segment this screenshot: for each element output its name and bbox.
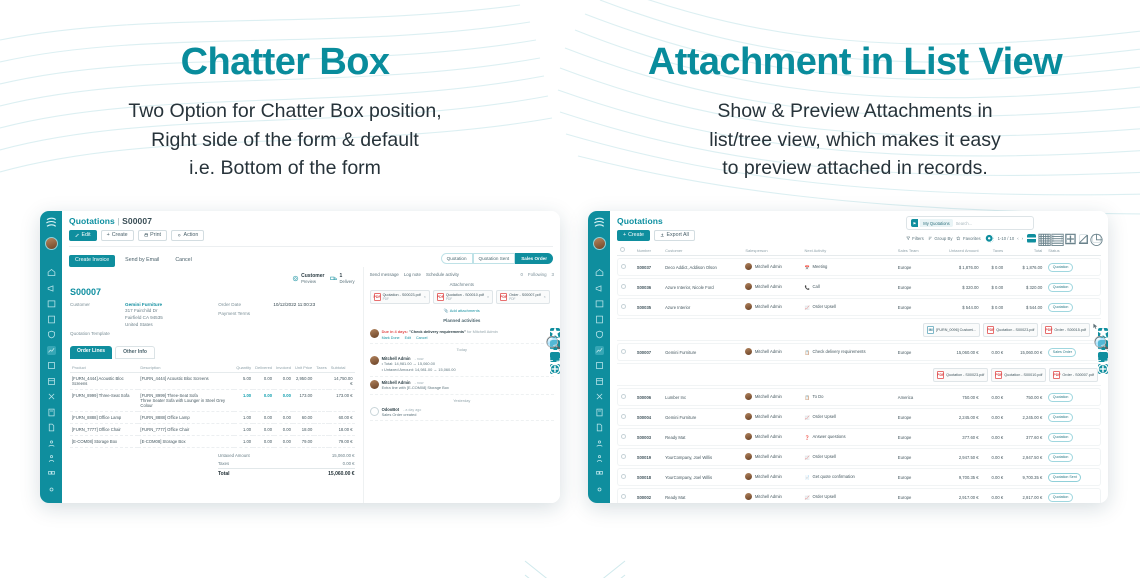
search-facet-label: My Quotations [920, 219, 952, 227]
attachments-title: Attachments [370, 282, 554, 287]
close-icon[interactable]: × [487, 295, 489, 299]
checkbox-icon[interactable] [621, 304, 626, 309]
col-customer[interactable]: Customer [662, 245, 742, 256]
table-row[interactable]: [FURN_4444] Acoustic Bloc Screens [FURN_… [70, 372, 355, 389]
activity-label: Call [812, 284, 819, 289]
attachment-chip[interactable]: PDF Quotation - S00010.pdf PDF × [433, 290, 493, 304]
checkbox-icon[interactable] [621, 414, 626, 419]
apps-icon[interactable] [47, 470, 56, 479]
paperclip-icon: 📎 [444, 308, 449, 313]
graph-icon[interactable]: ⊿ [1079, 234, 1088, 243]
purchase-icon[interactable] [595, 377, 604, 386]
attachment-cell: PDF Quotation - S00023.pdf PDF Quotation… [617, 363, 1101, 386]
edit-activity-button[interactable]: Edit [405, 336, 411, 340]
employees-icon[interactable] [47, 439, 56, 448]
inventory-icon[interactable] [47, 361, 56, 370]
cell-untaxed: 750.00 € [932, 388, 982, 406]
col-salesperson[interactable]: Salesperson [742, 245, 801, 256]
status-bar: Quotation Quotation Sent Sales Order [441, 253, 553, 264]
home-icon[interactable] [595, 268, 604, 277]
cell-activity: 📅Meeting [801, 258, 894, 276]
calendar-icon[interactable] [595, 299, 604, 308]
create-button-label: Create [628, 233, 644, 238]
salesperson-name: Mitchell Admin [755, 264, 782, 269]
log-note-button[interactable]: Log note [404, 272, 421, 277]
col-taxes[interactable]: Taxes [314, 363, 328, 373]
cell-status: Quotation Sent [1045, 468, 1101, 486]
documents-icon[interactable] [47, 423, 56, 432]
settings-icon[interactable] [595, 485, 604, 494]
schedule-activity-button[interactable]: Schedule activity [426, 272, 459, 277]
odoo-logo-icon[interactable] [43, 215, 59, 231]
activity-icon[interactable]: ◷ [1092, 234, 1101, 243]
avatar [745, 493, 752, 500]
kanban-icon[interactable]: ▦ [1040, 234, 1049, 243]
gear-icon [177, 233, 182, 238]
chatter-panel: Send message Log note Schedule activity … [364, 267, 560, 503]
sales-icon[interactable] [595, 346, 604, 355]
attachment-chip[interactable]: PDF Order - S00007.pdf PDF × [496, 290, 550, 304]
message-item: OdooBot - a day ago Sales Order created [370, 404, 554, 422]
cell-salesperson: Mitchell Admin [742, 343, 801, 361]
calendar-icon[interactable] [47, 299, 56, 308]
cell-untaxed: $ 1,876.00 [932, 258, 982, 276]
attachment-type: PDF [383, 297, 421, 301]
send-by-email-button[interactable]: Send by Email [119, 255, 165, 266]
cell-taxes: 0.00 € [982, 468, 1007, 486]
table-row[interactable]: [FURN_8999] Three-Seat Sofa [FURN_8999] … [70, 389, 355, 411]
settings-icon[interactable] [47, 485, 56, 494]
avatar [745, 263, 752, 270]
export-all-label: Export All [667, 233, 689, 238]
pencil-icon [75, 233, 80, 238]
manufacturing-icon[interactable] [47, 392, 56, 401]
cell-untaxed: 377.60 € [932, 428, 982, 446]
cell-delivered: 0.00 [253, 411, 274, 423]
cell-quantity: 1.00 [234, 389, 253, 411]
breadcrumb-app[interactable]: Quotations [69, 216, 115, 226]
row-checkbox[interactable] [617, 343, 634, 361]
attachment-chip[interactable]: PDF Order - S00007.pdf [1049, 368, 1098, 382]
headline-subtitle-attachment-list-view: Show & Preview Attachments in list/tree … [570, 97, 1140, 183]
activity-label: Meeting [812, 264, 827, 269]
salesperson-name: Mitchell Admin [755, 284, 782, 289]
col-product[interactable]: Product [70, 363, 138, 373]
row-checkbox[interactable] [617, 448, 634, 466]
row-checkbox[interactable] [617, 278, 634, 296]
cell-price: 173.00 [293, 389, 314, 411]
cell-price: 79.00 [293, 435, 314, 447]
avatar [370, 329, 379, 338]
table-row[interactable]: S00006 Lumber Inc Mitchell Admin 📋To Do … [617, 388, 1101, 406]
activity-label: To Do [812, 394, 823, 399]
cell-activity: 📈Order Upsell [801, 448, 894, 466]
action-button[interactable]: Action [171, 230, 204, 241]
accounting-icon[interactable] [595, 408, 604, 417]
attachment-chip[interactable]: PDF Quotation - S00023.pdf [983, 323, 1038, 337]
checkbox-icon[interactable] [621, 454, 626, 459]
message-item: Mitchell Admin - now Extra line with [E-… [370, 377, 554, 395]
cell-quantity: 1.00 [234, 411, 253, 423]
cell-price: 2,950.00 [293, 372, 314, 389]
customer-preview-stat-button[interactable]: Customer Preview [292, 273, 324, 284]
megaphone-icon[interactable] [595, 284, 604, 293]
headline-left: Chatter Box Two Option for Chatter Box p… [0, 42, 570, 183]
cell-untaxed: $ 544.00 [932, 298, 982, 316]
cell-customer: Ready Mat [662, 428, 742, 446]
odoo-logo-icon[interactable] [591, 215, 607, 231]
cell-taxes: $ 0.00 [982, 298, 1007, 316]
checkbox-icon[interactable] [621, 494, 626, 499]
avatar [745, 348, 752, 355]
cell-untaxed: 2,947.50 € [932, 448, 982, 466]
manufacturing-icon[interactable] [595, 392, 604, 401]
shield-icon[interactable] [595, 330, 604, 339]
followers-count[interactable]: 3 [552, 272, 554, 277]
apps-icon[interactable] [595, 470, 604, 479]
cell-customer: Gemini Furniture [662, 408, 742, 426]
quote-icon: 📄 [804, 475, 810, 481]
attachment-list: IM [FURN_0096] Customi... PDF Quotation … [620, 323, 1098, 337]
cell-activity: 📋Check delivery requirements [801, 343, 894, 361]
recruitment-icon[interactable] [47, 454, 56, 463]
megaphone-icon[interactable] [47, 284, 56, 293]
zoom-tool-icon[interactable]: ⊕ [550, 364, 560, 374]
add-attachments-label: Add attachments [450, 308, 480, 313]
cell-number: S00019 [634, 448, 662, 466]
cell-total: 2,947.50 € [1006, 448, 1045, 466]
zoom-tool-icon[interactable]: ⊕ [1098, 364, 1108, 374]
cell-total: 2,245.00 € [1006, 408, 1045, 426]
employees-icon[interactable] [595, 439, 604, 448]
inventory-icon[interactable] [595, 361, 604, 370]
attachment-chip[interactable]: PDF Order - S00015.pdf [1041, 323, 1090, 337]
select-all-checkbox[interactable] [620, 247, 625, 252]
cell-team: Europe [895, 258, 932, 276]
documents-icon[interactable] [595, 423, 604, 432]
attachment-chip[interactable]: PDF Quotation - S00010.pdf [991, 368, 1046, 382]
status-pill-quotation[interactable]: Quotation [441, 253, 473, 264]
cell-taxes: 0.00 € [982, 428, 1007, 446]
field-customer: Customer Gemini Furniture 317 Fairchild … [70, 302, 206, 329]
cell-invoiced: 0.00 [274, 423, 293, 435]
pdf-icon: PDF [374, 293, 381, 301]
side-tool-panel: ★ 🔍 ⛶ ⊕ [550, 328, 560, 374]
export-all-button[interactable]: Export All [654, 230, 695, 241]
col-number[interactable]: Number [634, 245, 662, 256]
create-button[interactable]: + Create [617, 230, 650, 241]
cell-salesperson: Mitchell Admin [742, 298, 801, 316]
checkbox-icon[interactable] [621, 264, 626, 269]
cell-team: Europe [895, 298, 932, 316]
col-select[interactable] [617, 245, 634, 256]
col-subtotal[interactable]: Subtotal [329, 363, 355, 373]
col-invoiced[interactable]: Invoiced [274, 363, 293, 373]
calendar-icon[interactable]: ▤ [1053, 234, 1062, 243]
checkbox-icon[interactable] [621, 434, 626, 439]
breadcrumb: Quotations | S00007 [69, 216, 553, 226]
close-icon[interactable]: × [544, 295, 546, 299]
cell-number: S00003 [634, 428, 662, 446]
table-row[interactable]: [E-COM08] Storage Box [E-COM08] Storage … [70, 435, 355, 447]
pager-previous-icon[interactable]: ‹ [1017, 236, 1018, 241]
status-badge: Quotation [1048, 283, 1073, 292]
table-row[interactable]: S00003 Ready Mat Mitchell Admin ❓Answer … [617, 428, 1101, 446]
mark-done-button[interactable]: Mark Done [382, 336, 400, 340]
cell-activity: 📈Order Upsell [801, 488, 894, 503]
customer-preview-label: Preview [301, 279, 316, 284]
home-icon[interactable] [47, 268, 56, 277]
edit-button[interactable]: Edit [69, 230, 97, 241]
status-badge: Quotation [1048, 453, 1073, 462]
avatar [370, 380, 379, 389]
salesperson-name: Mitchell Admin [755, 474, 782, 479]
row-attachments: PDF Quotation - S00023.pdf PDF Quotation… [617, 363, 1101, 386]
image-icon: IM [927, 326, 934, 334]
salesperson-name: Mitchell Admin [755, 454, 782, 459]
delivery-stat-button[interactable]: 1 Delivery [330, 273, 354, 284]
activity-links: Mark Done Edit Cancel [382, 336, 498, 340]
col-description[interactable]: Description [138, 363, 234, 373]
contacts-icon[interactable] [47, 315, 56, 324]
upsell-icon: 📈 [804, 415, 810, 421]
create-button[interactable]: + Create [101, 230, 134, 241]
record-title: S00007 [70, 287, 355, 297]
form-body: Quotations | S00007 Edit + Create [62, 211, 560, 503]
filters-dropdown[interactable]: Filters [906, 236, 924, 241]
sidebar-icon-list [595, 268, 604, 494]
group-by-dropdown[interactable]: Group By [928, 236, 953, 241]
table-row[interactable]: S00036 Azure Interior, Nicole Ford Mitch… [617, 278, 1101, 296]
cell-status: Quotation [1045, 448, 1101, 466]
table-row[interactable]: [FURN_7777] Office Chair [FURN_7777] Off… [70, 423, 355, 435]
cell-product: [E-COM08] Storage Box [70, 435, 138, 447]
form-pane: Customer Preview 1 Delivery S00007 [62, 267, 364, 503]
checkbox-icon[interactable] [621, 349, 626, 354]
user-avatar[interactable] [45, 237, 58, 250]
cell-activity: 📄Get quote confirmation [801, 468, 894, 486]
todo-icon: 📋 [804, 350, 810, 356]
contacts-icon[interactable] [595, 315, 604, 324]
pivot-icon[interactable]: ⊞ [1066, 234, 1075, 243]
cell-team: Europe [895, 428, 932, 446]
attachment-cell: IM [FURN_0096] Customi... PDF Quotation … [617, 318, 1101, 341]
search-facet-my-quotations[interactable]: ⚑ My Quotations [911, 219, 953, 227]
cell-product: [FURN_7777] Office Chair [70, 423, 138, 435]
app-sidebar [588, 211, 610, 503]
table-row[interactable]: S00019 YourCompany, Joel Willis Mitchell… [617, 448, 1101, 466]
attachment-chip[interactable]: IM [FURN_0096] Customi... [923, 323, 980, 337]
col-taxes[interactable]: Taxes [982, 245, 1007, 256]
cell-activity: 📈Order Upsell [801, 298, 894, 316]
cell-invoiced: 0.00 [274, 389, 293, 411]
headline-section: Chatter Box Two Option for Chatter Box p… [0, 0, 1140, 183]
customer-address: 317 Fairchild Dr Fairfield CA 94535 Unit… [125, 308, 163, 328]
cell-total: 15,060.00 € [1006, 343, 1045, 361]
pager-text: 1-10 / 10 [998, 236, 1015, 241]
create-invoice-button[interactable]: Create Invoice [69, 255, 115, 266]
pager-next-icon[interactable]: › [1022, 236, 1023, 241]
pdf-icon: PDF [987, 326, 994, 334]
user-avatar[interactable] [593, 237, 606, 250]
breadcrumb-separator: | [117, 216, 119, 226]
screenshot-list-view: Quotations + Create Export All [588, 211, 1108, 503]
cell-untaxed: $ 320.00 [932, 278, 982, 296]
cell-untaxed: 15,060.00 € [932, 343, 982, 361]
following-button[interactable]: Following [528, 272, 547, 277]
sales-icon[interactable] [47, 346, 56, 355]
cell-description: [FURN_4444] Acoustic Bloc Screens [138, 372, 234, 389]
print-icon [144, 233, 149, 238]
cell-number: S00018 [634, 468, 662, 486]
row-checkbox[interactable] [617, 408, 634, 426]
row-checkbox[interactable] [617, 258, 634, 276]
side-tool-panel: ★ 🔍 ⛶ ⊕ [1098, 328, 1108, 374]
cell-customer: Azure Interior [662, 298, 742, 316]
cell-subtotal: 79.00 € [329, 435, 355, 447]
row-checkbox[interactable] [617, 488, 634, 503]
recruitment-icon[interactable] [595, 454, 604, 463]
tab-other-info[interactable]: Other Info [115, 346, 155, 359]
table-row[interactable]: S00035 Azure Interior Mitchell Admin 📈Or… [617, 298, 1101, 316]
avatar [745, 473, 752, 480]
col-total[interactable]: Total [1006, 245, 1045, 256]
row-checkbox[interactable] [617, 388, 634, 406]
row-checkbox[interactable] [617, 428, 634, 446]
checkbox-icon[interactable] [621, 474, 626, 479]
activity-item: Due in 4 days: "Check delivery requireme… [370, 326, 554, 344]
create-button-label: Create [112, 233, 128, 238]
chatter-header: Send message Log note Schedule activity … [370, 272, 554, 277]
salesperson-name: Mitchell Admin [755, 434, 782, 439]
salesperson-name: Mitchell Admin [755, 304, 782, 309]
message-author: OdooBot [382, 407, 400, 412]
list-view-icon[interactable]: ☰ [1027, 234, 1036, 243]
attachment-list: PDF Quotation - S00023.pdf PDF Quotation… [620, 368, 1098, 382]
print-button[interactable]: Print [138, 230, 167, 241]
cell-price: 18.00 [293, 423, 314, 435]
favorites-dropdown[interactable]: Favorites [956, 236, 980, 241]
row-checkbox[interactable] [617, 468, 634, 486]
cell-activity: ❓Answer questions [801, 428, 894, 446]
avatar [745, 453, 752, 460]
filter-icon [906, 236, 911, 241]
breadcrumb-app[interactable]: Quotations [617, 216, 663, 226]
control-panel: Quotations + Create Export All [610, 211, 1108, 243]
status-badge: Quotation [1048, 493, 1073, 502]
table-row[interactable]: [FURN_8888] Office Lamp [FURN_8888] Offi… [70, 411, 355, 423]
status-pill-sales-order[interactable]: Sales Order [515, 253, 553, 264]
total-label: Total [218, 471, 230, 477]
table-row[interactable]: S00004 Gemini Furniture Mitchell Admin 📈… [617, 408, 1101, 426]
activity-label: Order Upsell [812, 304, 836, 309]
order-lines-table: Product Description Quantity Delivered I… [70, 363, 355, 448]
cell-number: S00035 [634, 298, 662, 316]
close-icon[interactable]: × [424, 295, 426, 299]
pdf-icon: PDF [437, 293, 444, 301]
tab-order-lines[interactable]: Order Lines [70, 346, 112, 359]
activity-text: Due in 4 days: "Check delivery requireme… [382, 329, 498, 335]
shield-icon[interactable] [47, 330, 56, 339]
checkbox-icon[interactable] [621, 394, 626, 399]
table-row[interactable]: S00018 YourCompany, Joel Willis Mitchell… [617, 468, 1101, 486]
list-header-row: Number Customer Salesperson Next Activit… [617, 245, 1101, 256]
col-next-activity[interactable]: Next Activity [801, 245, 894, 256]
stat-button-row: Customer Preview 1 Delivery [70, 273, 355, 284]
customer-name: Gemini Furniture [125, 302, 162, 307]
settings-gear-icon[interactable]: ⚙ [985, 234, 994, 243]
col-unit-price[interactable]: Unit Price [293, 363, 314, 373]
cancel-button[interactable]: Cancel [169, 255, 198, 266]
filters-label: Filters [912, 236, 924, 241]
cell-customer: YourCompany, Joel Willis [662, 448, 742, 466]
cell-description: [FURN_8999] Three-Seat Sofa Three Seater… [138, 389, 234, 411]
purchase-icon[interactable] [47, 377, 56, 386]
workflow-button-row: Create Invoice Send by Email Cancel [69, 255, 198, 266]
export-icon [660, 233, 665, 238]
col-quantity[interactable]: Quantity [234, 363, 253, 373]
cell-number: S00006 [634, 388, 662, 406]
status-pill-quotation-sent[interactable]: Quotation Sent [473, 253, 516, 264]
table-row[interactable]: S00037 Deco Addict, Addison Olson Mitche… [617, 258, 1101, 276]
print-button-label: Print [150, 233, 161, 238]
attachment-chip[interactable]: PDF Quotation - S00023.pdf [933, 368, 988, 382]
cell-subtotal: 173.00 € [329, 389, 355, 411]
field-order-date-value[interactable]: 10/12/2022 11:00:23 [273, 302, 315, 309]
status-badge: Quotation [1048, 433, 1073, 442]
cell-status: Quotation [1045, 388, 1101, 406]
accounting-icon[interactable] [47, 408, 56, 417]
cancel-activity-button[interactable]: Cancel [416, 336, 427, 340]
cell-activity: 📞Call [801, 278, 894, 296]
table-row[interactable]: S00002 Ready Mat Mitchell Admin 📈Order U… [617, 488, 1101, 503]
totals-block: Untaxed Amount 15,060.00 € Taxes 0.00 € … [218, 452, 355, 479]
cell-salesperson: Mitchell Admin [742, 278, 801, 296]
attachment-chip[interactable]: PDF Quotation - S00023.pdf PDF × [370, 290, 430, 304]
pdf-icon: PDF [1045, 326, 1052, 334]
cell-salesperson: Mitchell Admin [742, 448, 801, 466]
cell-untaxed: 9,700.35 € [932, 468, 982, 486]
cell-taxes: $ 0.00 [982, 258, 1007, 276]
status-badge: Quotation [1048, 413, 1073, 422]
salesperson-name: Mitchell Admin [755, 394, 782, 399]
action-button-row: Edit + Create Print Action [69, 230, 553, 241]
cell-team: Europe [895, 468, 932, 486]
status-badge: Sales Order [1048, 348, 1076, 357]
checkbox-icon[interactable] [621, 284, 626, 289]
field-customer-value[interactable]: Gemini Furniture 317 Fairchild Dr Fairfi… [125, 302, 163, 329]
cell-taxes [314, 411, 328, 423]
add-attachments-button[interactable]: 📎 Add attachments [370, 308, 554, 313]
table-row[interactable]: S00007 Gemini Furniture Mitchell Admin 📋… [617, 343, 1101, 361]
attachment-name: Quotation - S00010.pdf [1004, 373, 1042, 377]
cell-delivered: 0.00 [253, 389, 274, 411]
search-input[interactable]: ⚑ My Quotations Search... [906, 216, 1034, 230]
cell-invoiced: 0.00 [274, 372, 293, 389]
col-status[interactable]: Status [1045, 245, 1101, 256]
headline-title-attachment-list-view: Attachment in List View [570, 42, 1140, 83]
send-message-button[interactable]: Send message [370, 272, 399, 277]
screenshot-row: Quotations | S00007 Edit + Create [0, 211, 1140, 511]
cell-taxes [314, 435, 328, 447]
cell-delivered: 0.00 [253, 423, 274, 435]
attachment-name: Order - S00007.pdf [509, 293, 541, 297]
cell-total: 9,700.35 € [1006, 468, 1045, 486]
col-sales-team[interactable]: Sales Team [895, 245, 932, 256]
row-checkbox[interactable] [617, 298, 634, 316]
col-delivered[interactable]: Delivered [253, 363, 274, 373]
col-untaxed-amount[interactable]: Untaxed Amount [932, 245, 982, 256]
